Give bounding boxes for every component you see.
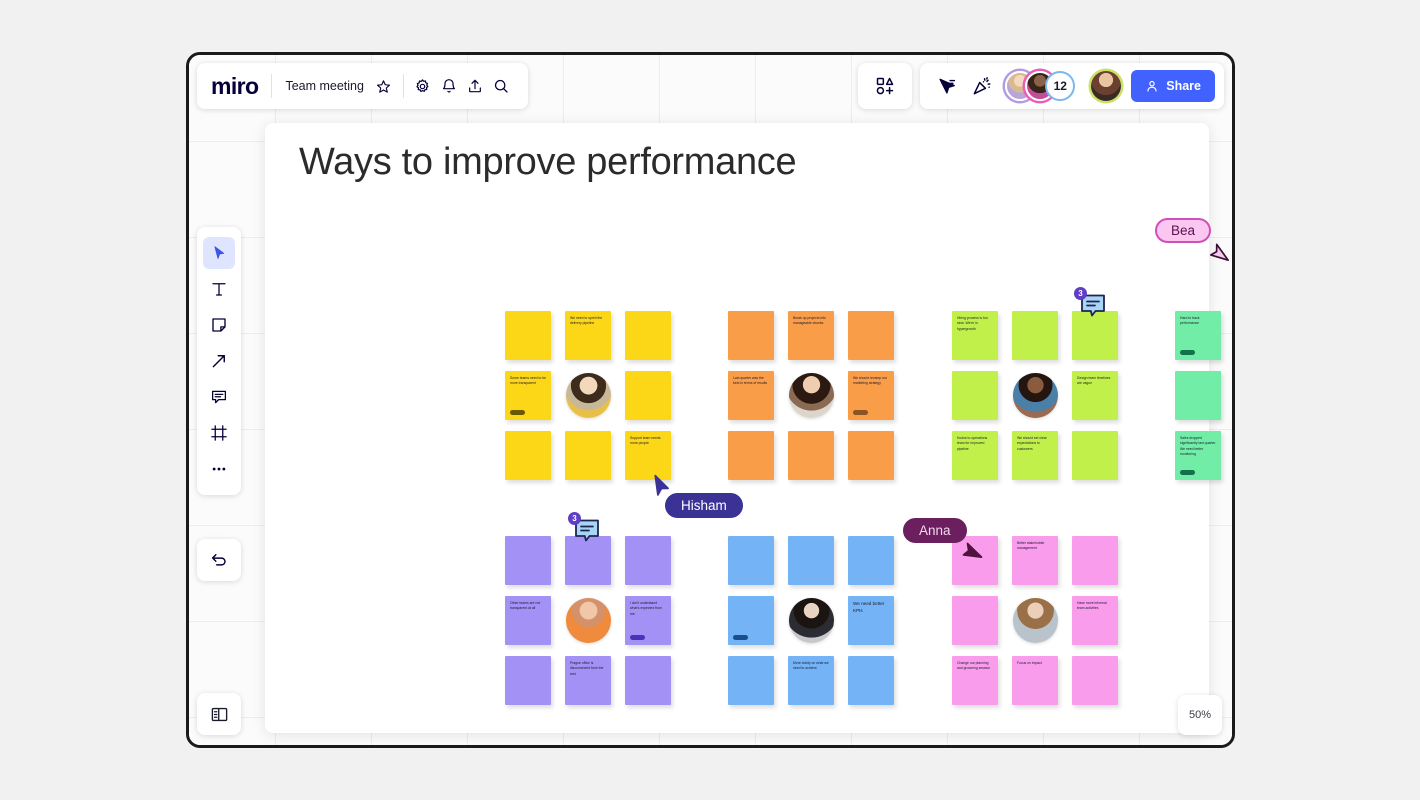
sticky-note[interactable] bbox=[1072, 656, 1118, 705]
miro-app-window: Ways to improve performance We need to s… bbox=[186, 52, 1235, 748]
sticky-note[interactable] bbox=[505, 536, 551, 585]
sticky-note[interactable] bbox=[505, 656, 551, 705]
cursor-name-label: Anna bbox=[903, 518, 967, 543]
sticky-note[interactable] bbox=[728, 431, 774, 480]
sticky-note[interactable] bbox=[788, 431, 834, 480]
sticky-note[interactable]: Kudos to operations team for improved pi… bbox=[952, 431, 998, 480]
sticky-note-text: I don't understand what's expected from … bbox=[630, 601, 667, 617]
sticky-note[interactable]: Some teams need to be more transparent bbox=[505, 371, 551, 420]
sticky-note[interactable] bbox=[952, 371, 998, 420]
celebrate-icon[interactable] bbox=[969, 73, 995, 99]
sticky-note[interactable] bbox=[728, 536, 774, 585]
sticky-note[interactable] bbox=[625, 656, 671, 705]
sticky-note[interactable]: Prague office is disconnected from the r… bbox=[565, 656, 611, 705]
sticky-note[interactable]: Hiring process is too slow. We're in hyp… bbox=[952, 311, 998, 360]
sticky-note-text: Hiring process is too slow. We're in hyp… bbox=[957, 316, 994, 332]
sticky-note[interactable] bbox=[1012, 311, 1058, 360]
comment-pin-lime[interactable]: 3 bbox=[1078, 291, 1108, 321]
sticky-note[interactable] bbox=[728, 656, 774, 705]
sticky-note-text: We need better KPIs bbox=[853, 601, 890, 615]
sticky-note[interactable] bbox=[788, 536, 834, 585]
select-tool[interactable] bbox=[203, 237, 235, 269]
header-divider-2 bbox=[403, 74, 404, 98]
participant-photo[interactable] bbox=[566, 373, 611, 418]
sticky-note-text: We need to sprint the delivery pipeline bbox=[570, 316, 607, 327]
sticky-note[interactable]: We need to sprint the delivery pipeline bbox=[565, 311, 611, 360]
sticky-note[interactable] bbox=[625, 536, 671, 585]
collaborator-avatars[interactable]: 12 bbox=[1005, 71, 1075, 101]
sticky-note[interactable]: Other teams are not transparent at all bbox=[505, 596, 551, 645]
sticky-note-text: Prague office is disconnected from the r… bbox=[570, 661, 607, 677]
templates-icon[interactable] bbox=[858, 63, 912, 109]
sticky-note[interactable] bbox=[952, 596, 998, 645]
collaboration-pod: 12 Share bbox=[920, 63, 1224, 109]
sticky-note-tag[interactable] bbox=[510, 410, 525, 415]
sticky-note-text: We should revamp our marketing strategy bbox=[853, 376, 890, 387]
sticky-note[interactable]: We should set clear expectations to cust… bbox=[1012, 431, 1058, 480]
sticky-note[interactable] bbox=[1175, 371, 1221, 420]
sticky-note-text: Other teams are not transparent at all bbox=[510, 601, 547, 612]
gear-icon[interactable] bbox=[410, 73, 436, 99]
sticky-note-text: Hard to track performance bbox=[1180, 316, 1217, 327]
sticky-note-text: Some teams need to be more transparent bbox=[510, 376, 547, 387]
more-tools[interactable] bbox=[203, 453, 235, 485]
share-label: Share bbox=[1166, 79, 1201, 93]
sticky-note[interactable]: Sales dropped significantly last quarter… bbox=[1175, 431, 1221, 480]
sticky-note[interactable] bbox=[505, 431, 551, 480]
sticky-note[interactable] bbox=[848, 536, 894, 585]
cursor-name-label: Hisham bbox=[665, 493, 743, 518]
participant-photo[interactable] bbox=[789, 373, 834, 418]
sticky-note[interactable] bbox=[848, 431, 894, 480]
sticky-note-tag[interactable] bbox=[853, 410, 868, 415]
sticky-note[interactable] bbox=[728, 596, 774, 645]
undo-button[interactable] bbox=[197, 539, 241, 581]
comment-tool[interactable] bbox=[203, 381, 235, 413]
header-right-bar: 12 Share bbox=[858, 63, 1224, 109]
sticky-note-tag[interactable] bbox=[733, 635, 748, 640]
sticky-note-tool[interactable] bbox=[203, 309, 235, 341]
current-user-avatar[interactable] bbox=[1091, 71, 1121, 101]
sticky-note-text: Better stakeholder management bbox=[1017, 541, 1054, 552]
miro-logo[interactable]: miro bbox=[211, 73, 271, 100]
sticky-note-text: Sales dropped significantly last quarter… bbox=[1180, 436, 1217, 457]
star-icon[interactable] bbox=[371, 73, 397, 99]
sticky-note[interactable]: Better stakeholder management bbox=[1012, 536, 1058, 585]
zoom-level-indicator[interactable]: 50% bbox=[1178, 695, 1222, 735]
participant-photo[interactable] bbox=[789, 598, 834, 643]
participant-photo[interactable] bbox=[566, 598, 611, 643]
sticky-note[interactable]: I don't understand what's expected from … bbox=[625, 596, 671, 645]
sticky-note[interactable] bbox=[505, 311, 551, 360]
sticky-note[interactable]: Last quarter was the best in terms of re… bbox=[728, 371, 774, 420]
sticky-note[interactable]: More clarity on what we need to achieve bbox=[788, 656, 834, 705]
sticky-note-text: Last quarter was the best in terms of re… bbox=[733, 376, 770, 387]
sticky-note-tag[interactable] bbox=[1180, 470, 1195, 475]
sticky-note[interactable]: Change our planning and grooming session bbox=[952, 656, 998, 705]
sticky-note-text: Change our planning and grooming session bbox=[957, 661, 994, 672]
frame-tool[interactable] bbox=[203, 417, 235, 449]
board-name-label[interactable]: Team meeting bbox=[272, 79, 371, 93]
comment-pin-purple[interactable]: 3 bbox=[572, 516, 602, 546]
comment-count-badge: 3 bbox=[568, 512, 581, 525]
sticky-note[interactable] bbox=[625, 311, 671, 360]
search-icon[interactable] bbox=[488, 73, 514, 99]
sticky-note[interactable] bbox=[728, 311, 774, 360]
sticky-note-text: Design team timelines are vague bbox=[1077, 376, 1114, 387]
sticky-note[interactable]: Focus on impact bbox=[1012, 656, 1058, 705]
sticky-note[interactable]: Hard to track performance bbox=[1175, 311, 1221, 360]
pointer-share-icon[interactable] bbox=[933, 73, 959, 99]
board-title-text: Ways to improve performance bbox=[299, 141, 796, 184]
header-left-bar: miro Team meeting bbox=[197, 63, 528, 109]
sticky-note-text: We should set clear expectations to cust… bbox=[1017, 436, 1054, 452]
left-toolbar bbox=[197, 227, 241, 495]
sticky-note[interactable] bbox=[848, 656, 894, 705]
arrow-tool[interactable] bbox=[203, 345, 235, 377]
sticky-note[interactable]: Support team needs more people bbox=[625, 431, 671, 480]
sticky-note[interactable]: We should revamp our marketing strategy bbox=[848, 371, 894, 420]
sticky-note-text: Kudos to operations team for improved pi… bbox=[957, 436, 994, 452]
comment-count-badge: 3 bbox=[1074, 287, 1087, 300]
bell-icon[interactable] bbox=[436, 73, 462, 99]
collaborator-count[interactable]: 12 bbox=[1045, 71, 1075, 101]
sticky-note[interactable]: Design team timelines are vague bbox=[1072, 371, 1118, 420]
sticky-note[interactable] bbox=[1072, 536, 1118, 585]
board-canvas[interactable]: Ways to improve performance We need to s… bbox=[189, 55, 1232, 745]
sticky-note[interactable] bbox=[1072, 431, 1118, 480]
sticky-note[interactable]: We need better KPIs bbox=[848, 596, 894, 645]
sticky-note-text: Support team needs more people bbox=[630, 436, 667, 447]
cursor-name-label: Bea bbox=[1155, 218, 1211, 243]
participant-photo[interactable] bbox=[1013, 373, 1058, 418]
sticky-note[interactable]: Break up projects into manageable chunks bbox=[788, 311, 834, 360]
panel-toggle-button[interactable] bbox=[197, 693, 241, 735]
upload-icon[interactable] bbox=[462, 73, 488, 99]
sticky-note-text: More clarity on what we need to achieve bbox=[793, 661, 830, 672]
share-button[interactable]: Share bbox=[1131, 70, 1215, 102]
text-tool[interactable] bbox=[203, 273, 235, 305]
sticky-note[interactable] bbox=[848, 311, 894, 360]
sticky-note-text: Focus on impact bbox=[1017, 661, 1054, 666]
sticky-note-text: Have more informal team activities bbox=[1077, 601, 1114, 612]
sticky-note[interactable]: Have more informal team activities bbox=[1072, 596, 1118, 645]
sticky-note[interactable] bbox=[565, 431, 611, 480]
participant-photo[interactable] bbox=[1013, 598, 1058, 643]
sticky-note[interactable] bbox=[625, 371, 671, 420]
sticky-note-tag[interactable] bbox=[1180, 350, 1195, 355]
sticky-note-tag[interactable] bbox=[630, 635, 645, 640]
sticky-note-text: Break up projects into manageable chunks bbox=[793, 316, 830, 327]
